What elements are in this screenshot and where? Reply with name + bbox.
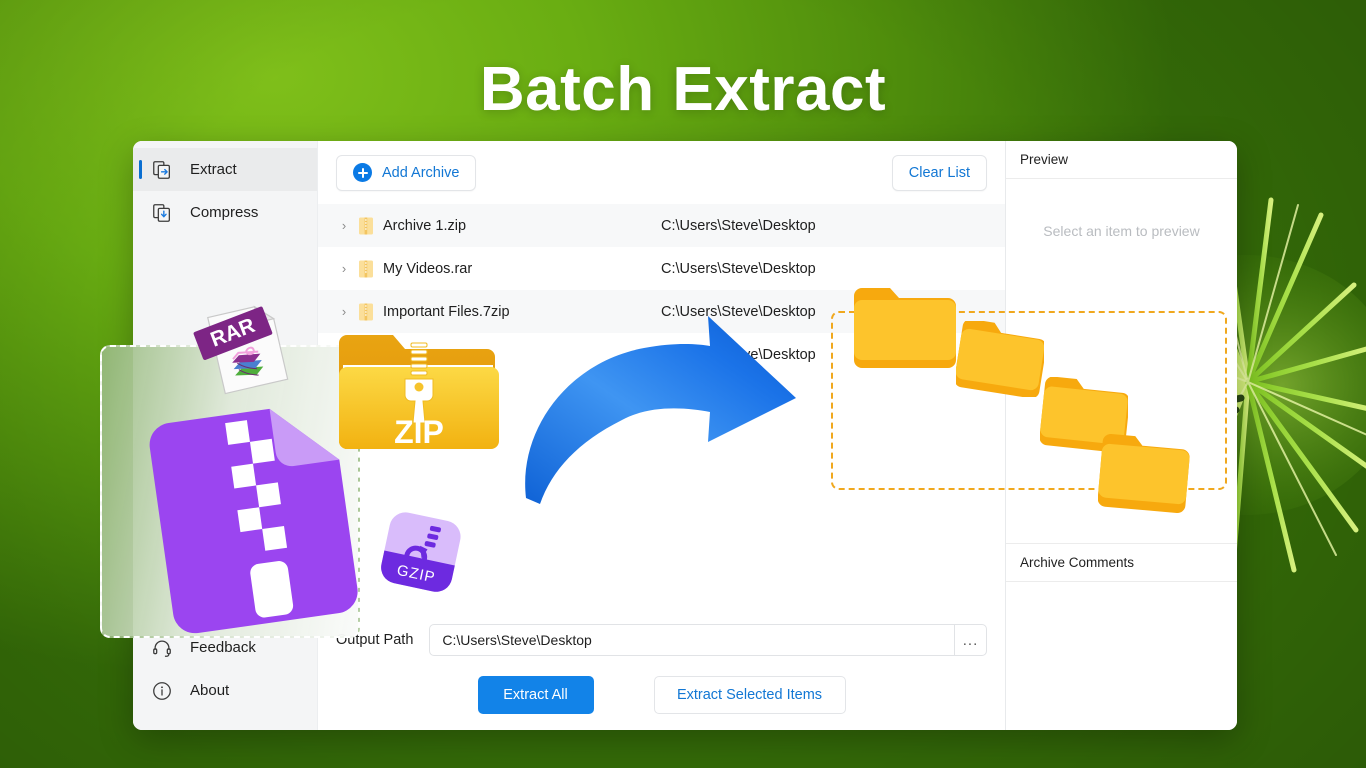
sidebar-item-label: Compress: [190, 204, 258, 221]
sidebar-item-label: About: [190, 682, 229, 699]
table-row[interactable]: › C:\Users\Steve\Desktop: [318, 333, 1005, 376]
extract-selected-button[interactable]: Extract Selected Items: [654, 676, 846, 714]
sidebar-spacer: [133, 234, 317, 626]
preview-panel: Preview Select an item to preview Archiv…: [1005, 141, 1237, 730]
table-row[interactable]: › Important Files.7zip C:\Users\Steve\De…: [318, 290, 1005, 333]
sidebar-item-label: Feedback: [190, 639, 256, 656]
clear-list-label: Clear List: [909, 165, 970, 181]
extract-pages-icon: [151, 159, 173, 181]
preview-body: Select an item to preview: [1006, 179, 1237, 544]
sidebar-item-feedback[interactable]: Feedback: [133, 626, 317, 669]
add-archive-label: Add Archive: [382, 165, 459, 181]
zip-file-icon: [358, 260, 374, 278]
headset-icon: [151, 637, 173, 659]
output-section: Output Path C:\Users\Steve\Desktop ... E…: [318, 624, 1005, 730]
page-title: Batch Extract: [0, 54, 1366, 125]
archive-name: My Videos.rar: [383, 261, 661, 277]
archive-path: C:\Users\Steve\Desktop: [661, 347, 816, 363]
preview-title: Preview: [1006, 141, 1237, 179]
archive-path: C:\Users\Steve\Desktop: [661, 218, 816, 234]
toolbar: Add Archive Clear List: [318, 141, 1005, 204]
sidebar-item-compress[interactable]: Compress: [133, 191, 317, 234]
sidebar-item-about[interactable]: About: [133, 669, 317, 712]
ellipsis-icon[interactable]: ...: [954, 625, 986, 655]
main-content: Add Archive Clear List › Archive 1.zip C…: [318, 141, 1005, 730]
chevron-right-icon[interactable]: ›: [336, 304, 352, 319]
sidebar-item-extract[interactable]: Extract: [133, 148, 317, 191]
preview-empty-text: Select an item to preview: [1043, 223, 1199, 543]
archive-list: › Archive 1.zip C:\Users\Steve\Desktop ›: [318, 204, 1005, 624]
sidebar: Extract Compress Feedback: [133, 141, 318, 730]
zip-file-icon: [358, 217, 374, 235]
output-path-row: Output Path C:\Users\Steve\Desktop ...: [336, 624, 987, 656]
archive-path: C:\Users\Steve\Desktop: [661, 261, 816, 277]
table-row[interactable]: › Archive 1.zip C:\Users\Steve\Desktop: [318, 204, 1005, 247]
chevron-right-icon[interactable]: ›: [336, 218, 352, 233]
archive-name: Archive 1.zip: [383, 218, 661, 234]
add-archive-button[interactable]: Add Archive: [336, 155, 476, 191]
output-path-label: Output Path: [336, 632, 413, 648]
extract-all-button[interactable]: Extract All: [478, 676, 594, 714]
info-circle-icon: [151, 680, 173, 702]
action-buttons: Extract All Extract Selected Items: [336, 676, 987, 714]
zip-file-icon: [358, 346, 374, 364]
chevron-right-icon[interactable]: ›: [336, 347, 352, 362]
archive-comments-title: Archive Comments: [1006, 544, 1237, 582]
app-window: Extract Compress Feedback: [133, 141, 1237, 730]
archive-comments-body: [1006, 582, 1237, 730]
zip-file-icon: [358, 303, 374, 321]
sidebar-item-label: Extract: [190, 161, 237, 178]
sidebar-bottom-group: Feedback About: [133, 626, 317, 730]
plus-circle-icon: [353, 163, 372, 182]
output-path-field[interactable]: C:\Users\Steve\Desktop ...: [429, 624, 987, 656]
chevron-right-icon[interactable]: ›: [336, 261, 352, 276]
archive-path: C:\Users\Steve\Desktop: [661, 304, 816, 320]
table-row[interactable]: › My Videos.rar C:\Users\Steve\Desktop: [318, 247, 1005, 290]
output-path-input[interactable]: C:\Users\Steve\Desktop: [430, 625, 954, 655]
clear-list-button[interactable]: Clear List: [892, 155, 987, 191]
archive-name: Important Files.7zip: [383, 304, 661, 320]
compress-pages-icon: [151, 202, 173, 224]
